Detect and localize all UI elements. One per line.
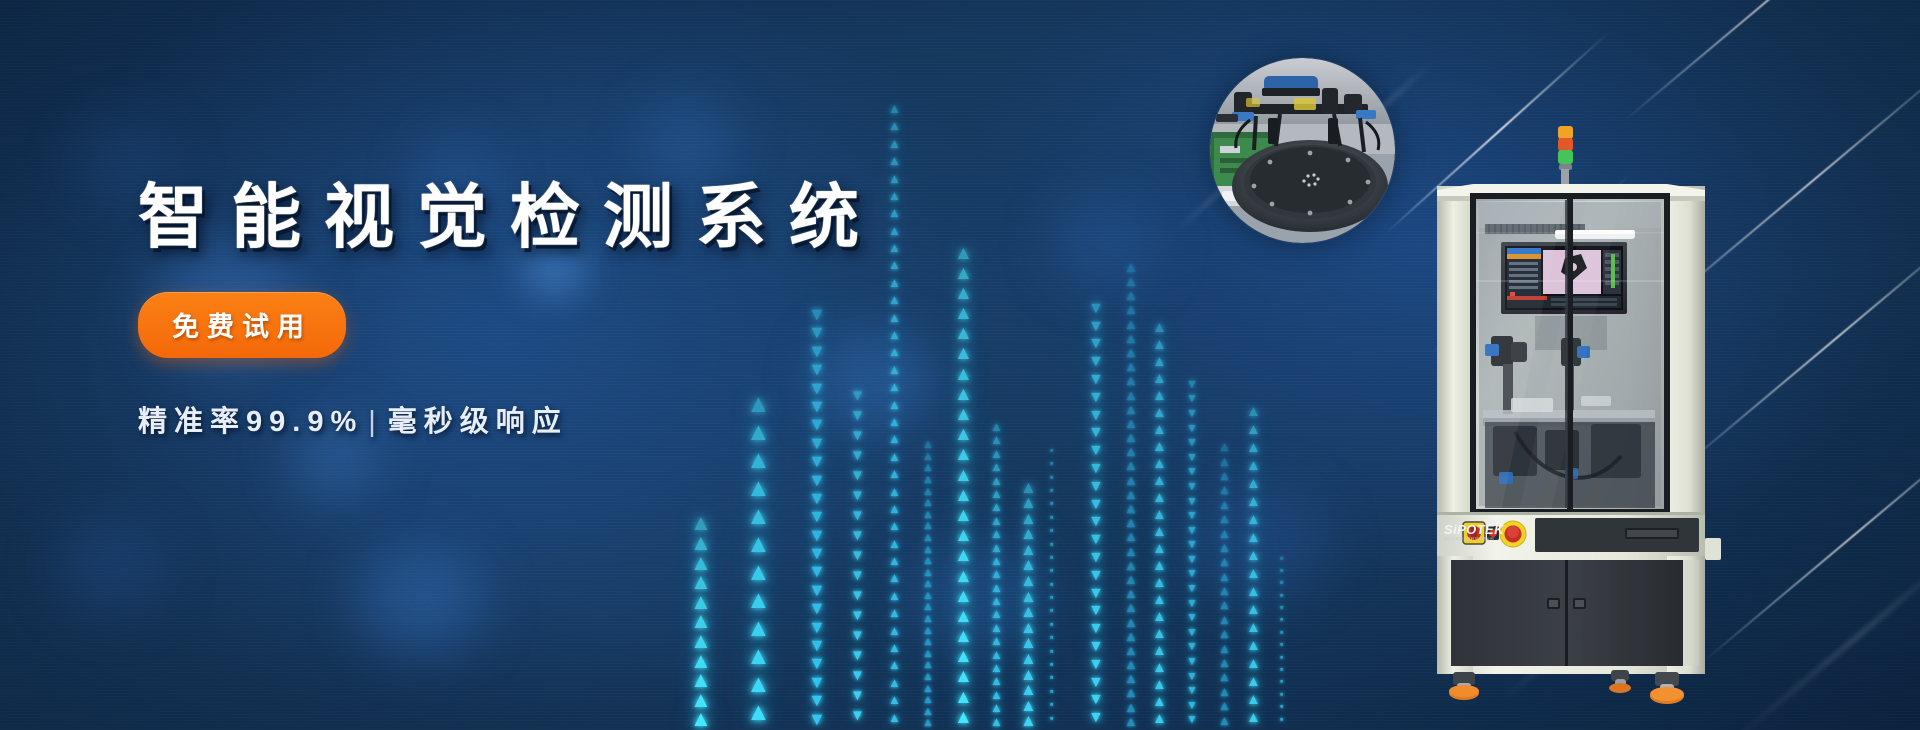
arrow-glyph: ▲ — [888, 452, 901, 462]
arrow-glyph: ▲ — [954, 710, 973, 725]
arrow-glyph: ▲ — [1246, 532, 1261, 544]
arrow-glyph: ▲ — [1246, 496, 1261, 508]
arrow-glyph: ▲ — [990, 516, 1003, 526]
arrow-glyph: ▲ — [954, 246, 973, 261]
bokeh-glow — [355, 545, 485, 655]
arrow-glyph: ▼ — [808, 509, 826, 523]
arrow-glyph: ■ — [1050, 636, 1053, 640]
arrow-glyph: ▲ — [1152, 407, 1167, 419]
arrow-glyph: ▲ — [1124, 347, 1138, 358]
arrow-glyph: ▲ — [954, 629, 973, 644]
arrow-glyph: ▲ — [1152, 628, 1167, 640]
arrow-glyph: ▲ — [990, 583, 1003, 593]
arrow-glyph: ▲ — [1152, 543, 1167, 555]
arrow-glyph: ▲ — [888, 539, 901, 549]
arrow-glyph: ▲ — [888, 469, 901, 479]
arrow-glyph: ▲ — [1246, 712, 1261, 724]
arrow-glyph: ▲ — [1152, 696, 1167, 708]
arrow-glyph: ■ — [1280, 606, 1283, 610]
arrow-glyph: ▲ — [1246, 694, 1261, 706]
arrow-glyph: ▲ — [1124, 432, 1138, 443]
stat-response: 毫秒级响应 — [388, 406, 568, 438]
arrow-glyph: ▲ — [888, 382, 901, 392]
arrow-glyph: ■ — [1280, 631, 1283, 635]
arrow-glyph: ▲ — [690, 710, 712, 728]
arrow-glyph: ▼ — [808, 712, 826, 726]
arrow-glyph: ▼ — [1088, 427, 1104, 440]
arrow-glyph: ▲ — [1218, 529, 1231, 539]
hero-stats-line: 精准率99.9%|毫秒级响应 — [138, 398, 882, 440]
stat-separator: | — [363, 406, 388, 438]
arrow-glyph: ▲ — [1218, 500, 1231, 510]
arrow-glyph: ▼ — [1088, 588, 1104, 601]
arrow-glyph: ▲ — [1246, 640, 1261, 652]
arrow-glyph: ■ — [1050, 596, 1053, 600]
arrow-glyph: ▲ — [746, 506, 771, 526]
arrow-glyph: ■ — [1050, 583, 1053, 587]
arrow-glyph: ▲ — [888, 504, 901, 514]
free-trial-button[interactable]: 免费试用 — [138, 292, 346, 358]
arrow-glyph: ▲ — [1152, 424, 1167, 436]
arrow-glyph: ■ — [1280, 557, 1283, 561]
arrow-glyph: ▲ — [888, 208, 901, 218]
arrow-glyph: ▲ — [690, 691, 712, 709]
arrow-glyph: ▲ — [1124, 673, 1138, 684]
free-trial-button-label: 免费试用 — [172, 312, 312, 342]
arrow-glyph: ■ — [1050, 489, 1053, 493]
arrow-glyph: ▲ — [1218, 442, 1231, 452]
arrow-glyph: ▲ — [746, 674, 771, 694]
arrow-glyph: ▲ — [1152, 492, 1167, 504]
arrow-glyph: ▲ — [954, 589, 973, 604]
arrow-glyph: ▲ — [1152, 475, 1167, 487]
arrow-glyph: ▼ — [1088, 694, 1104, 707]
arrow-glyph: ▲ — [954, 488, 973, 503]
arrow-glyph: ▲ — [954, 649, 973, 664]
arrow-glyph: ▲ — [1124, 475, 1138, 486]
arrow-glyph: ▲ — [1124, 390, 1138, 401]
arrow-glyph: ▼ — [1186, 380, 1198, 390]
arrow-glyph: ▼ — [808, 601, 826, 615]
arrow-glyph: ▲ — [954, 548, 973, 563]
arrow-glyph: ▲ — [990, 529, 1003, 539]
arrow-glyph: ▼ — [850, 450, 865, 462]
arrow-glyph: ▲ — [1218, 572, 1231, 582]
arrow-glyph: ▼ — [1088, 374, 1104, 387]
arrow-glyph: ▲ — [1218, 658, 1231, 668]
arrow-glyph: ▲ — [1218, 687, 1231, 697]
arrow-glyph: ▲ — [1152, 390, 1167, 402]
arrow-glyph: ▲ — [690, 632, 712, 650]
arrow-glyph: ▼ — [1186, 409, 1198, 419]
arrow-glyph: ▼ — [1088, 570, 1104, 583]
arrow-glyph: ▲ — [954, 346, 973, 361]
arrow-glyph: ▲ — [746, 534, 771, 554]
arrow-glyph: ▲ — [990, 636, 1003, 646]
inset-photo-illustration — [1210, 58, 1395, 243]
arrow-glyph: ▼ — [1186, 686, 1198, 696]
arrow-glyph: ▲ — [888, 191, 901, 201]
arrow-glyph: ▲ — [1218, 485, 1231, 495]
arrow-glyph: ■ — [1050, 543, 1053, 547]
arrow-glyph: ▲ — [954, 690, 973, 705]
bokeh-glow — [55, 520, 165, 615]
arrow-glyph: ■ — [1050, 516, 1053, 520]
arrow-glyph: ▼ — [1186, 453, 1198, 463]
arrow-glyph: ▼ — [1088, 338, 1104, 351]
arrow-glyph: ■ — [1280, 618, 1283, 622]
arrow-glyph: ▲ — [954, 609, 973, 624]
inset-photo-rotary-table — [1210, 58, 1395, 243]
arrow-glyph: ■ — [1050, 556, 1053, 560]
arrow-glyph: ▲ — [888, 313, 901, 323]
arrow-glyph: ▲ — [888, 295, 901, 305]
arrow-glyph: ■ — [1050, 476, 1053, 480]
arrow-glyph: ▲ — [954, 508, 973, 523]
arrow-glyph: ▲ — [1246, 622, 1261, 634]
machine-illustration — [1415, 120, 1725, 705]
arrow-glyph: ▲ — [1124, 574, 1138, 585]
arrow-glyph: ▼ — [1186, 540, 1198, 550]
arrow-column: ▼▼▼▼▼▼▼▼▼▼▼▼▼▼▼▼▼▼▼▼▼▼▼▼ — [1186, 375, 1198, 730]
light-streak — [1729, 537, 1920, 730]
arrow-glyph: ▼ — [1186, 467, 1198, 477]
arrow-column: ▲▲▲▲▲▲▲▲▲▲▲▲▲▲▲▲▲▲▲▲▲▲▲▲▲▲▲▲▲▲▲▲▲ — [1124, 250, 1138, 730]
arrow-glyph: ■ — [1050, 676, 1053, 680]
arrow-glyph: ▲ — [746, 702, 771, 722]
arrow-glyph: ▲ — [1218, 457, 1231, 467]
arrow-glyph: ▲ — [954, 387, 973, 402]
arrow-glyph: ▼ — [1088, 356, 1104, 369]
arrow-glyph: ▼ — [1186, 497, 1198, 507]
arrow-glyph: ▲ — [954, 407, 973, 422]
arrow-glyph: ■ — [1050, 529, 1053, 533]
product-machine-inspection-cabinet — [1415, 120, 1725, 705]
arrow-glyph: ▲ — [888, 243, 901, 253]
arrow-glyph: ▲ — [990, 422, 1003, 432]
arrow-glyph: ▼ — [808, 528, 826, 542]
arrow-glyph: ▲ — [1246, 604, 1261, 616]
arrow-column: ▲▲▲▲▲▲▲▲▲▲▲▲▲▲▲▲▲▲ — [1246, 400, 1261, 730]
arrow-glyph: ▲ — [1152, 645, 1167, 657]
arrow-glyph: ▼ — [808, 473, 826, 487]
arrow-glyph: ▼ — [1088, 516, 1104, 529]
arrow-glyph: ▲ — [1124, 319, 1138, 330]
arrow-glyph: ▼ — [1088, 445, 1104, 458]
arrow-glyph: ▲ — [1020, 527, 1037, 541]
arrow-glyph: ▼ — [1088, 499, 1104, 512]
arrow-glyph: ▲ — [990, 609, 1003, 619]
arrow-glyph: ■ — [1050, 502, 1053, 506]
page-title: 智能视觉检测系统 — [138, 182, 882, 252]
arrow-glyph: ■ — [1050, 663, 1053, 667]
arrow-glyph: ▼ — [1088, 552, 1104, 565]
arrow-glyph: ▲ — [888, 643, 901, 653]
arrow-glyph: ▲ — [1152, 594, 1167, 606]
arrow-glyph: ▲ — [990, 569, 1003, 579]
arrow-glyph: ▲ — [1218, 644, 1231, 654]
arrow-glyph: ▲ — [1218, 615, 1231, 625]
arrow-glyph: ▲ — [990, 502, 1003, 512]
arrow-glyph: ▲ — [954, 447, 973, 462]
arrow-glyph: ▲ — [1152, 441, 1167, 453]
arrow-glyph: ▲ — [1218, 701, 1231, 711]
arrow-glyph: ▲ — [888, 626, 901, 636]
arrow-glyph: ▲ — [888, 104, 901, 114]
arrow-glyph: ▼ — [1186, 424, 1198, 434]
arrow-glyph: ▲ — [1152, 373, 1167, 385]
arrow-glyph: ▲ — [1218, 629, 1231, 639]
arrow-column: ▲▲▲▲▲▲▲▲▲▲▲▲▲▲▲▲▲▲▲▲▲▲▲▲▲ — [922, 430, 934, 730]
arrow-glyph: ▲ — [954, 306, 973, 321]
arrow-glyph: ■ — [1050, 690, 1053, 694]
arrow-glyph: ▲ — [1124, 276, 1138, 287]
arrow-glyph: ■ — [1280, 718, 1283, 722]
arrow-column: ▲▲▲▲▲▲▲▲▲▲▲▲▲▲▲▲▲▲▲▲▲▲▲▲▲▲▲▲▲▲▲▲▲▲▲▲ — [888, 90, 901, 730]
arrow-column: ■■■■■■■■■■■■■■ — [1280, 485, 1283, 730]
arrow-glyph: ▲ — [1020, 652, 1037, 666]
arrow-glyph: ▼ — [850, 650, 865, 662]
arrow-glyph: ▼ — [850, 610, 865, 622]
arrow-glyph: ■ — [1050, 569, 1053, 573]
arrow-glyph: ▲ — [954, 367, 973, 382]
arrow-glyph: ▲ — [990, 717, 1003, 727]
arrow-glyph: ▲ — [1124, 517, 1138, 528]
arrow-glyph: ▲ — [1152, 713, 1167, 725]
arrow-glyph: ▼ — [1088, 641, 1104, 654]
arrow-glyph: ▲ — [954, 528, 973, 543]
arrow-glyph: ▼ — [1088, 605, 1104, 618]
arrow-glyph: ▼ — [1186, 526, 1198, 536]
arrow-glyph: ▲ — [1218, 514, 1231, 524]
stat-accuracy: 精准率99.9% — [138, 406, 363, 438]
arrow-glyph: ▲ — [1246, 514, 1261, 526]
arrow-glyph: ▲ — [1246, 478, 1261, 490]
arrow-glyph: ▲ — [1124, 617, 1138, 628]
arrow-glyph: ▼ — [850, 550, 865, 562]
arrow-glyph: ▲ — [1020, 574, 1037, 588]
arrow-glyph: ▲ — [888, 573, 901, 583]
arrow-glyph: ▼ — [850, 570, 865, 582]
arrow-glyph: ▲ — [1218, 600, 1231, 610]
hero-copy-block: 智能视觉检测系统 免费试用 精准率99.9%|毫秒级响应 — [138, 182, 882, 440]
arrow-glyph: ▲ — [1124, 560, 1138, 571]
arrow-glyph: ▲ — [888, 660, 901, 670]
arrow-glyph: ▼ — [808, 638, 826, 652]
arrow-glyph: ■ — [1280, 668, 1283, 672]
arrow-glyph: ▼ — [808, 564, 826, 578]
arrow-glyph: ▲ — [990, 623, 1003, 633]
arrow-column: ■■■■■■■■■■■■■■■■■■■■■ — [1050, 340, 1053, 730]
arrow-glyph: ▲ — [1124, 659, 1138, 670]
arrow-glyph: ▼ — [808, 546, 826, 560]
arrow-glyph: ▲ — [990, 556, 1003, 566]
arrow-glyph: ▼ — [808, 491, 826, 505]
arrow-glyph: ▲ — [1152, 526, 1167, 538]
arrow-column: ▲▲▲▲▲▲▲▲▲▲▲▲▲▲▲▲▲▲▲▲▲▲▲▲ — [1152, 310, 1167, 730]
arrow-glyph: ▲ — [990, 596, 1003, 606]
arrow-glyph: ▲ — [1246, 658, 1261, 670]
arrow-glyph: ▲ — [888, 330, 901, 340]
arrow-glyph: ▼ — [808, 656, 826, 670]
arrow-glyph: ▲ — [990, 650, 1003, 660]
arrow-glyph: ▲ — [888, 156, 901, 166]
arrow-glyph: ▲ — [954, 669, 973, 684]
arrow-glyph: ▼ — [850, 710, 865, 722]
arrow-glyph: ■ — [1280, 680, 1283, 684]
arrow-glyph: ▲ — [1124, 418, 1138, 429]
arrow-glyph: ▼ — [850, 530, 865, 542]
arrow-glyph: ▲ — [954, 569, 973, 584]
arrow-glyph: ▲ — [1124, 503, 1138, 514]
arrow-glyph: ▲ — [1246, 406, 1261, 418]
arrow-glyph: ▼ — [1186, 628, 1198, 638]
arrow-glyph: ▼ — [1186, 701, 1198, 711]
arrow-glyph: ▲ — [888, 400, 901, 410]
arrow-glyph: ▼ — [1088, 481, 1104, 494]
arrow-glyph: ▲ — [888, 487, 901, 497]
arrow-glyph: ▲ — [1246, 550, 1261, 562]
arrow-glyph: ▲ — [1152, 679, 1167, 691]
arrow-glyph: ▼ — [1186, 657, 1198, 667]
arrow-glyph: ▼ — [850, 590, 865, 602]
arrow-glyph: ▼ — [1088, 410, 1104, 423]
arrow-glyph: ▼ — [1088, 712, 1104, 725]
arrow-glyph: ▼ — [808, 675, 826, 689]
arrow-glyph: ▲ — [1124, 460, 1138, 471]
arrow-glyph: ▼ — [808, 454, 826, 468]
arrow-glyph: ▲ — [1246, 568, 1261, 580]
arrow-glyph: ▲ — [888, 121, 901, 131]
arrow-glyph: ▼ — [808, 693, 826, 707]
arrow-column: ▲▲▲▲▲▲▲▲▲▲▲▲▲▲▲▲▲▲▲▲ — [1218, 440, 1231, 730]
arrow-glyph: ▲ — [888, 556, 901, 566]
arrow-glyph: ▲ — [888, 174, 901, 184]
arrow-glyph: ▼ — [1186, 672, 1198, 682]
arrow-glyph: ■ — [1280, 693, 1283, 697]
arrow-glyph: ▲ — [990, 435, 1003, 445]
arrow-glyph: ■ — [1050, 717, 1053, 721]
arrow-glyph: ▼ — [850, 510, 865, 522]
arrow-glyph: ■ — [1050, 609, 1053, 613]
arrow-glyph: ▲ — [1218, 471, 1231, 481]
arrow-glyph: ▲ — [1124, 375, 1138, 386]
arrow-glyph: ▼ — [1088, 677, 1104, 690]
arrow-glyph: ▲ — [888, 347, 901, 357]
arrow-glyph: ▲ — [1124, 304, 1138, 315]
arrow-column: ▲▲▲▲▲▲▲▲▲▲▲▲▲▲▲▲▲▲▲▲▲▲▲▲ — [954, 230, 973, 730]
arrow-glyph: ▲ — [990, 543, 1003, 553]
arrow-glyph: ▲ — [1020, 605, 1037, 619]
arrow-glyph: ▼ — [1186, 555, 1198, 565]
arrow-glyph: ▲ — [1124, 262, 1138, 273]
arrow-glyph: ▲ — [746, 646, 771, 666]
arrow-glyph: ▲ — [990, 489, 1003, 499]
arrow-glyph: ▲ — [954, 286, 973, 301]
arrow-glyph: ▼ — [1088, 659, 1104, 672]
arrow-glyph: ▲ — [1124, 489, 1138, 500]
arrow-glyph: ▲ — [954, 468, 973, 483]
arrow-glyph: ▼ — [1088, 463, 1104, 476]
arrow-glyph: ▲ — [1124, 631, 1138, 642]
arrow-glyph: ▲ — [1124, 361, 1138, 372]
arrow-glyph: ▲ — [1246, 442, 1261, 454]
arrow-glyph: ▲ — [1124, 588, 1138, 599]
arrow-glyph: ▲ — [888, 417, 901, 427]
arrow-glyph: ▲ — [888, 260, 901, 270]
arrow-glyph: ▲ — [1124, 404, 1138, 415]
arrow-glyph: ▲ — [990, 449, 1003, 459]
arrow-glyph: ▲ — [888, 695, 901, 705]
arrow-glyph: ▲ — [1124, 645, 1138, 656]
arrow-glyph: ▲ — [1152, 356, 1167, 368]
arrow-glyph: ■ — [1280, 643, 1283, 647]
arrow-glyph: ▼ — [1088, 623, 1104, 636]
arrow-glyph: ▲ — [888, 434, 901, 444]
arrow-glyph: ▼ — [850, 670, 865, 682]
arrow-glyph: ▼ — [1186, 613, 1198, 623]
arrow-glyph: ▼ — [1186, 394, 1198, 404]
arrow-glyph: ■ — [1050, 703, 1053, 707]
arrow-glyph: ▲ — [1246, 424, 1261, 436]
arrow-glyph: ▲ — [1020, 683, 1037, 697]
arrow-glyph: ▲ — [1124, 333, 1138, 344]
arrow-glyph: ▲ — [1124, 687, 1138, 698]
arrow-glyph: ▲ — [1246, 586, 1261, 598]
arrow-glyph: ■ — [1280, 594, 1283, 598]
arrow-glyph: ▲ — [888, 608, 901, 618]
arrow-glyph: ■ — [1280, 705, 1283, 709]
arrow-glyph: ▲ — [888, 713, 901, 723]
arrow-glyph: ■ — [1280, 656, 1283, 660]
arrow-glyph: ▼ — [808, 583, 826, 597]
arrow-glyph: ▲ — [888, 591, 901, 601]
arrow-glyph: ▲ — [990, 476, 1003, 486]
arrow-glyph: ▲ — [1124, 546, 1138, 557]
arrow-glyph: ▲ — [888, 678, 901, 688]
arrow-glyph: ▲ — [1124, 290, 1138, 301]
arrow-glyph: ▲ — [1124, 446, 1138, 457]
arrow-glyph: ▲ — [990, 663, 1003, 673]
arrow-glyph: ▼ — [1186, 482, 1198, 492]
arrow-glyph: ▲ — [1152, 509, 1167, 521]
arrow-glyph: ▲ — [954, 326, 973, 341]
arrow-glyph: ■ — [1050, 623, 1053, 627]
arrow-column: ▲▲▲▲▲▲▲▲▲▲▲▲▲▲▲▲ — [1020, 480, 1037, 730]
arrow-glyph: ▲ — [990, 462, 1003, 472]
arrow-glyph: ▲ — [746, 478, 771, 498]
hero-banner: ▲▲▲▲▲▲▲▲▲▲▲▲▲▲▲▲▲▲▲▲▲▲▲▼▼▼▼▼▼▼▼▼▼▼▼▼▼▼▼▼… — [0, 0, 1920, 730]
arrow-glyph: ▲ — [990, 703, 1003, 713]
arrow-glyph: ▲ — [888, 139, 901, 149]
arrow-glyph: ▲ — [990, 676, 1003, 686]
arrow-glyph: ▼ — [850, 690, 865, 702]
arrow-glyph: ▼ — [1088, 534, 1104, 547]
arrow-glyph: ▼ — [1186, 599, 1198, 609]
arrow-glyph: ▲ — [990, 690, 1003, 700]
arrow-glyph: ▲ — [1152, 662, 1167, 674]
arrow-glyph: ■ — [1050, 462, 1053, 466]
arrow-glyph: ▲ — [1020, 496, 1037, 510]
arrow-glyph: ▼ — [1186, 642, 1198, 652]
arrow-glyph: ■ — [1050, 650, 1053, 654]
arrow-glyph: ▲ — [954, 427, 973, 442]
arrow-glyph: ▲ — [1152, 577, 1167, 589]
arrow-glyph: ▲ — [1152, 458, 1167, 470]
arrow-glyph: ▼ — [1186, 715, 1198, 725]
arrow-column: ▼▼▼▼▼▼▼▼▼▼▼▼▼▼▼▼▼▼▼▼▼▼▼▼ — [1088, 290, 1104, 730]
arrow-glyph: ▲ — [888, 278, 901, 288]
